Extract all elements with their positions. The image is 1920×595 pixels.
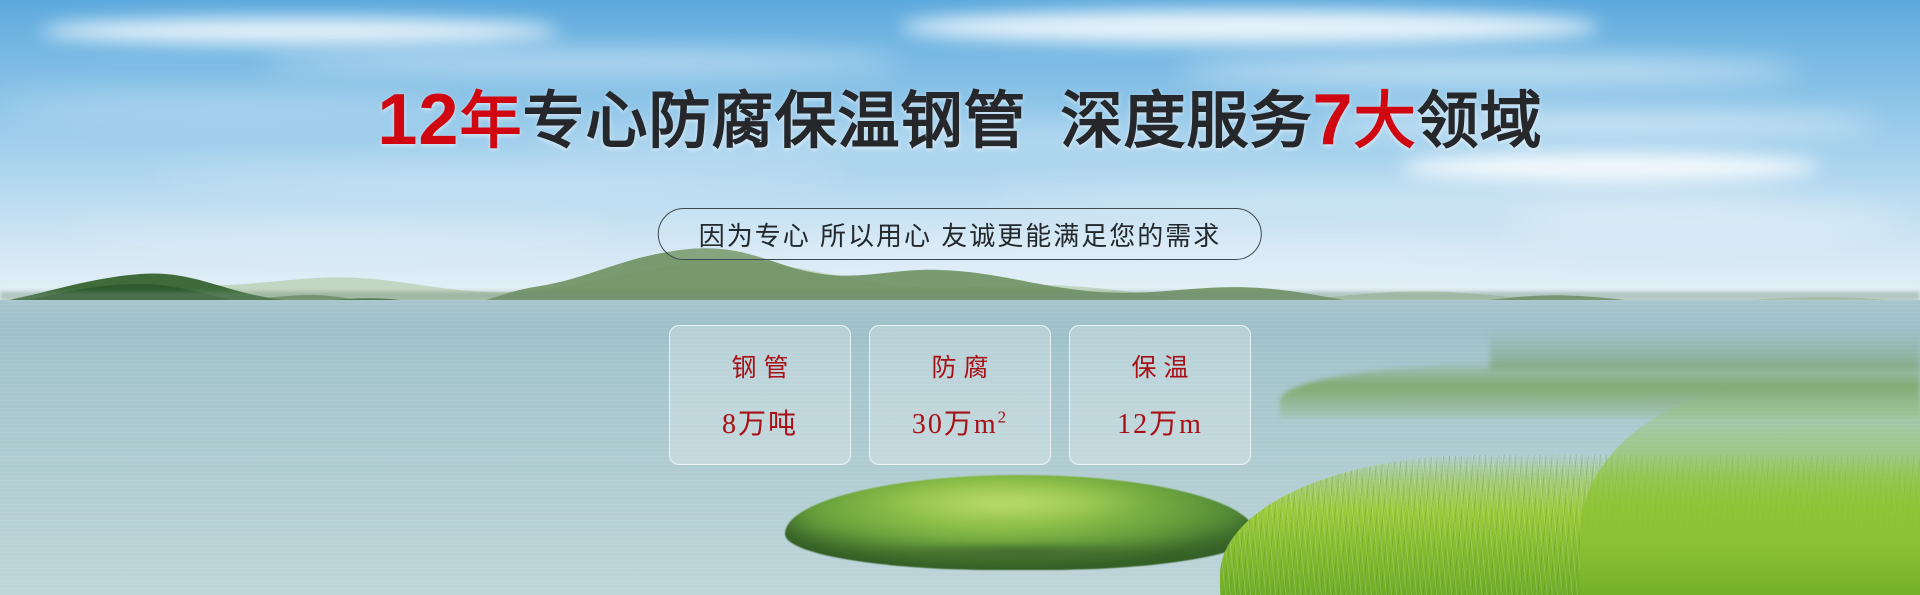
stat-card-value: 8万吨 [722, 402, 798, 442]
headline-years-number: 12 [377, 80, 459, 160]
headline-fields-unit: 大 [1354, 87, 1417, 156]
stat-value-text: 30万m [912, 409, 998, 440]
stat-card-label: 防腐 [924, 348, 995, 384]
headline-service-text: 深度服务 [1061, 87, 1313, 156]
headline-fields-text: 领域 [1417, 87, 1543, 156]
stat-card-label: 钢管 [724, 348, 795, 384]
stat-card-value: 12万m [1117, 402, 1203, 442]
sky-background [0, 0, 1920, 330]
stat-card-anticorrosion[interactable]: 防腐 30万m2 [869, 325, 1051, 465]
subtitle-text: 因为专心 所以用心 友诚更能满足您的需求 [699, 216, 1221, 253]
page-title: 12年专心防腐保温钢管深度服务7大领域 [0, 84, 1920, 156]
stat-card-insulation[interactable]: 保温 12万m [1069, 325, 1251, 465]
headline-years-unit: 年 [459, 87, 522, 156]
island-highlight [880, 484, 1150, 522]
headline-fields-number: 7 [1313, 80, 1354, 160]
stat-card-list: 钢管 8万吨 防腐 30万m2 保温 12万m [669, 325, 1251, 465]
promo-banner: 12年专心防腐保温钢管深度服务7大领域 因为专心 所以用心 友诚更能满足您的需求… [0, 0, 1920, 595]
stat-value-text: 12万m [1117, 409, 1203, 440]
island-water-fringe [800, 545, 1240, 579]
headline-main-text: 专心防腐保温钢管 [523, 87, 1027, 156]
subtitle-pill: 因为专心 所以用心 友诚更能满足您的需求 [658, 208, 1262, 260]
stat-value-superscript: 2 [998, 408, 1009, 427]
stat-card-value: 30万m2 [912, 402, 1008, 442]
stat-card-label: 保温 [1124, 348, 1195, 384]
stat-value-text: 8万吨 [722, 409, 798, 440]
stat-card-steel-pipe[interactable]: 钢管 8万吨 [669, 325, 851, 465]
